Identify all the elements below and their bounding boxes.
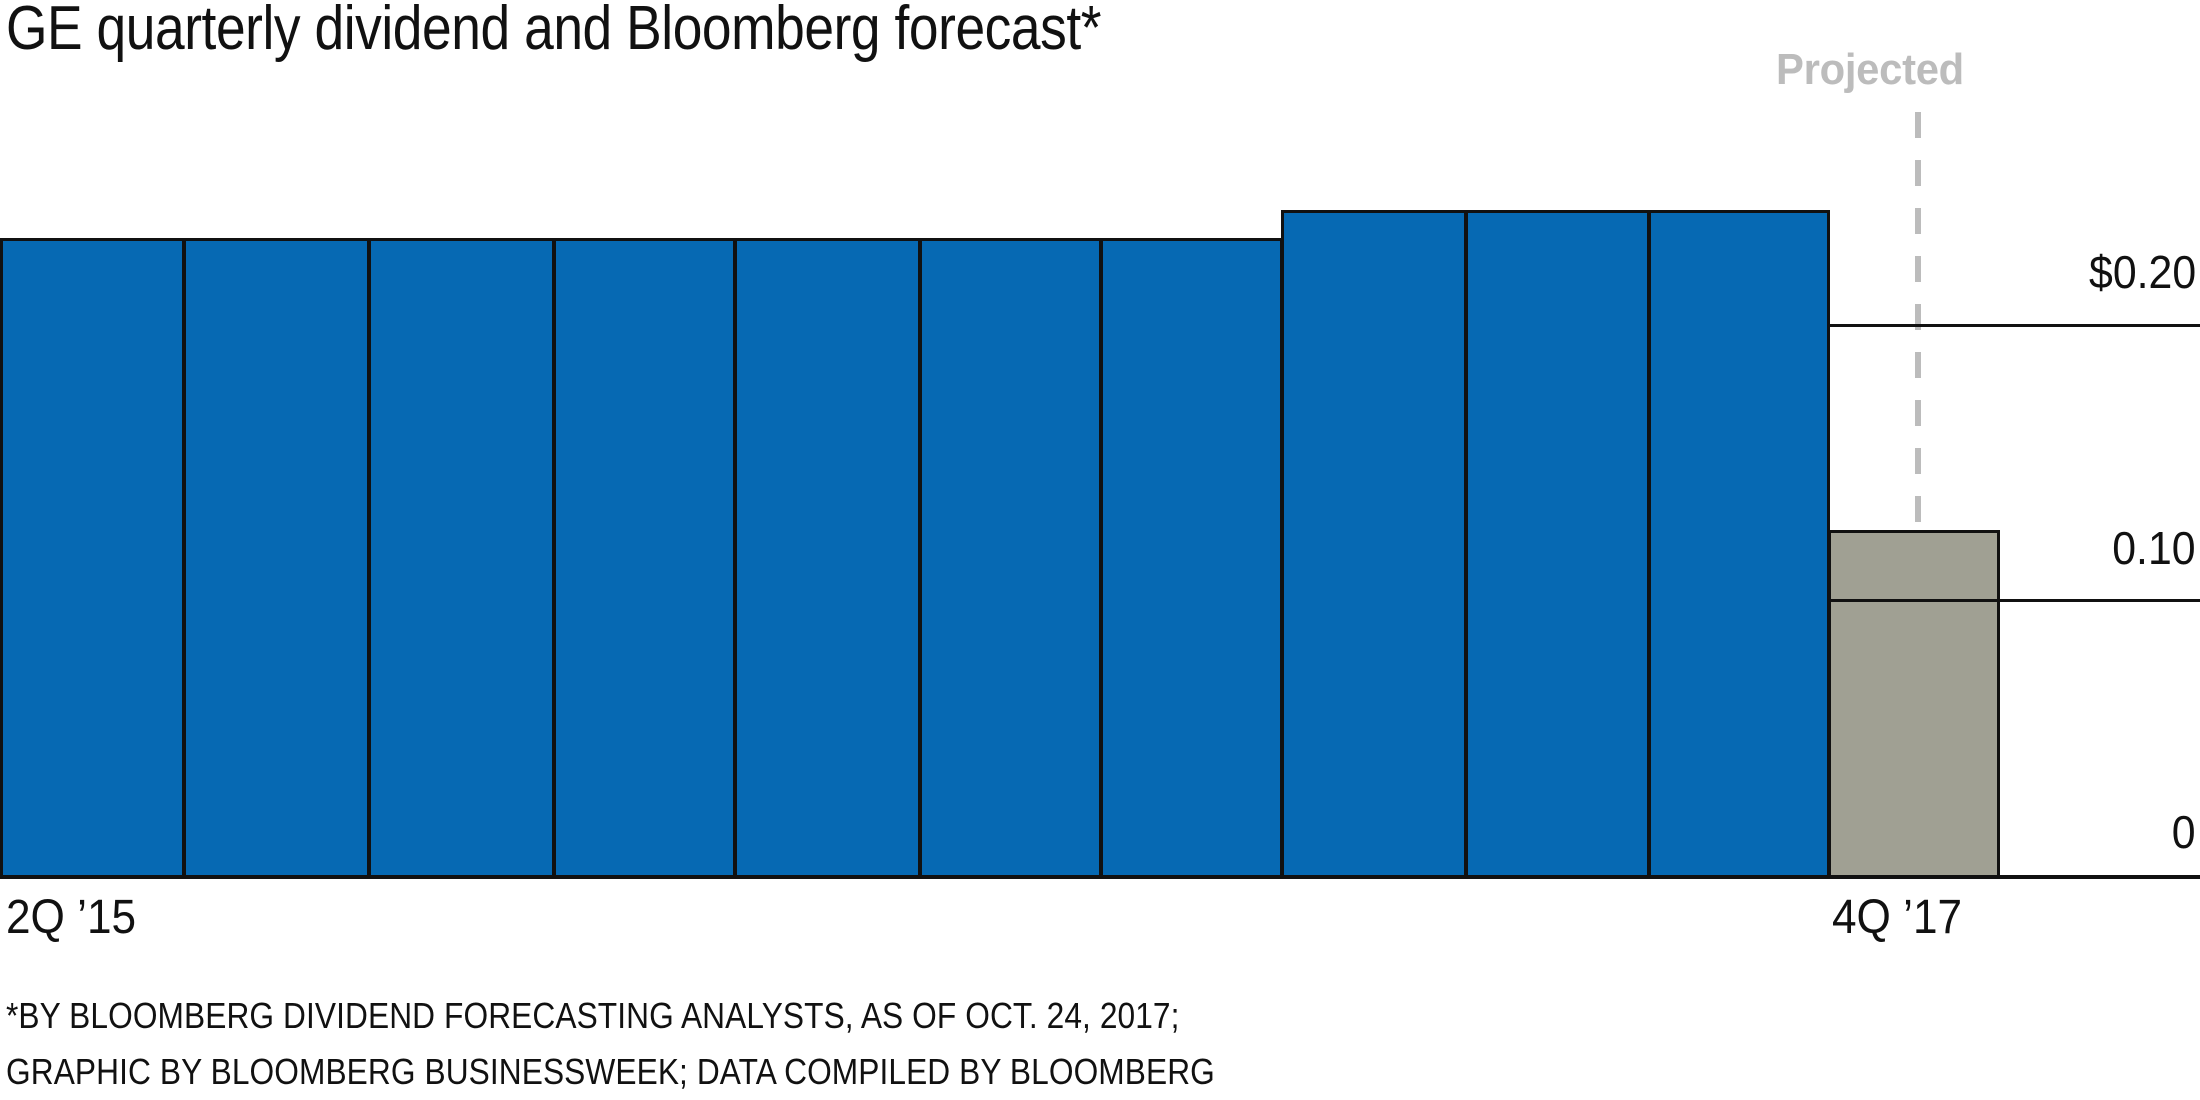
x-axis-label-end: 4Q ’17 (1832, 892, 1962, 944)
y-axis-tick-020: $0.20 (2089, 248, 2196, 296)
x-axis-label-start: 2Q ’15 (6, 892, 136, 944)
bar-3q16 (919, 238, 1102, 879)
bar-4q15 (368, 238, 555, 879)
bar-3q15 (183, 238, 370, 879)
bar-2q16 (734, 238, 921, 879)
bar-4q17 (1828, 530, 2000, 879)
footnote-line-2: GRAPHIC BY BLOOMBERG BUSINESSWEEK; DATA … (6, 1044, 1215, 1100)
bar-4q16 (1100, 238, 1283, 879)
bar-3q17 (1648, 210, 1830, 879)
bar-1q17 (1281, 210, 1467, 879)
bar-1q16 (553, 238, 736, 879)
y-axis-tick-010: 0.10 (2113, 524, 2196, 572)
bar-2q17 (1465, 210, 1650, 879)
gridline-020 (1828, 324, 2200, 327)
gridline-010 (1828, 599, 2200, 602)
chart-root: GE quarterly dividend and Bloomberg fore… (0, 0, 2200, 1100)
footnote-line-1: *BY BLOOMBERG DIVIDEND FORECASTING ANALY… (6, 988, 1215, 1044)
x-axis-baseline (0, 875, 2200, 879)
plot-area: $0.20 0.10 0 2Q ’15 4Q ’17 (0, 0, 2200, 1100)
footnote: *BY BLOOMBERG DIVIDEND FORECASTING ANALY… (6, 988, 1380, 1100)
y-axis-tick-0: 0 (2172, 808, 2196, 856)
bar-2q15 (0, 238, 185, 879)
